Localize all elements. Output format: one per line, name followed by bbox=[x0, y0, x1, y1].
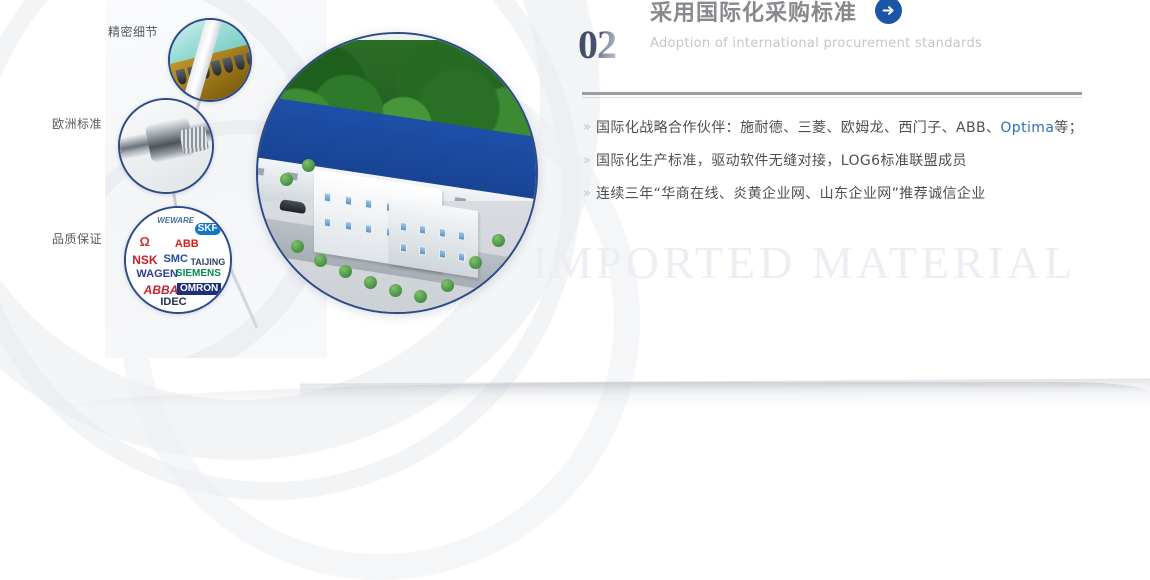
list-item: »国际化生产标准，驱动软件无缝对接，LOG6标准联盟成员 bbox=[578, 151, 1098, 171]
ball-screw-photo bbox=[118, 98, 214, 194]
caption-european-standard: 欧洲标准 bbox=[52, 115, 102, 132]
brand-logo-abb: ABB bbox=[175, 239, 199, 250]
header-divider bbox=[582, 92, 1082, 95]
section-header: 02 bbox=[578, 26, 622, 74]
section-title-wrap: 采用国际化采购标准 bbox=[650, 0, 902, 27]
list-item-label: 国际化战略合作伙伴：施耐德、三菱、欧姆龙、西门子、ABB、Optima等； bbox=[596, 118, 1083, 138]
list-item: »连续三年“华商在线、炎黄企业网、山东企业网”推荐诚信企业 bbox=[578, 184, 1098, 204]
header-divider-thin bbox=[582, 97, 1082, 98]
brand-logo-idec: IDEC bbox=[160, 297, 186, 308]
factory-illustration bbox=[258, 34, 536, 312]
feature-list: »国际化战略合作伙伴：施耐德、三菱、欧姆龙、西门子、ABB、Optima等；»国… bbox=[578, 118, 1098, 217]
content-column: IMPORTED MATERIAL 02 采用国际化采购标准 Adoption … bbox=[578, 0, 1098, 430]
chevron-double-right-icon: » bbox=[578, 118, 596, 138]
brand-logo-smc: SMC bbox=[163, 254, 187, 265]
brand-logo-siemens: SIEMENS bbox=[176, 269, 221, 279]
screw-thread bbox=[179, 126, 209, 155]
caption-precision-detail: 精密细节 bbox=[108, 23, 158, 40]
chevron-double-right-icon: » bbox=[578, 184, 596, 204]
factory-aerial-photo bbox=[256, 32, 538, 314]
brand-logo-nsk: NSK bbox=[132, 254, 157, 266]
factory-annex-building bbox=[389, 197, 478, 278]
arrow-right-circle-icon[interactable] bbox=[875, 0, 902, 24]
list-item-label: 连续三年“华商在线、炎黄企业网、山东企业网”推荐诚信企业 bbox=[596, 184, 986, 204]
brand-logos-photo: WEWARESKFΩABBNSKSMCTAIJINGWAGENSIEMENSAB… bbox=[124, 206, 232, 314]
gear-macro-photo bbox=[168, 18, 252, 102]
page-title: 采用国际化采购标准 bbox=[650, 1, 857, 27]
gear-illustration bbox=[170, 20, 250, 100]
watermark-text: IMPORTED MATERIAL bbox=[532, 236, 1076, 289]
brand-logo-abba: ABBA bbox=[144, 284, 179, 296]
caption-quality-guarantee: 品质保证 bbox=[52, 230, 102, 247]
brand-logo-weware: WEWARE bbox=[157, 217, 194, 225]
brand-logo-cloud: WEWARESKFΩABBNSKSMCTAIJINGWAGENSIEMENSAB… bbox=[126, 208, 230, 312]
brand-logo-wagen: WAGEN bbox=[136, 269, 178, 280]
banner-stage: WEWARESKFΩABBNSKSMCTAIJINGWAGENSIEMENSAB… bbox=[0, 0, 1150, 430]
list-item: »国际化战略合作伙伴：施耐德、三菱、欧姆龙、西门子、ABB、Optima等； bbox=[578, 118, 1098, 138]
brand-logo-taijing: TAIJING bbox=[190, 258, 225, 267]
highlight-brand: Optima bbox=[1000, 120, 1054, 136]
list-item-label: 国际化生产标准，驱动软件无缝对接，LOG6标准联盟成员 bbox=[596, 151, 967, 171]
section-number: 02 bbox=[578, 26, 622, 64]
brand-logo-omron: OMRON bbox=[177, 283, 221, 295]
brand-logo-ω: Ω bbox=[140, 235, 150, 248]
chevron-double-right-icon: » bbox=[578, 151, 596, 171]
brand-logo-skf: SKF bbox=[195, 223, 221, 235]
ball-screw-illustration bbox=[120, 100, 212, 192]
section-subtitle: Adoption of international procurement st… bbox=[650, 36, 982, 51]
